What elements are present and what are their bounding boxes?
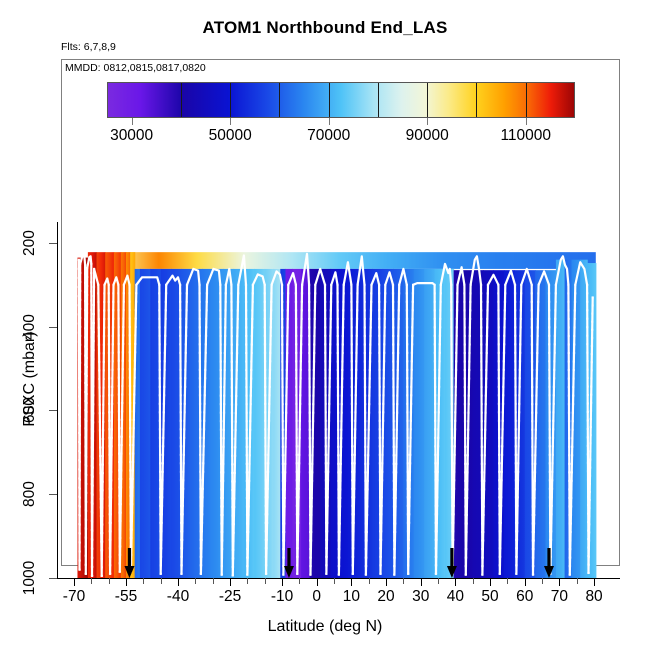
x-axis-tick-label: 0: [312, 588, 321, 606]
x-axis-tick-label: 10: [343, 588, 360, 606]
colorbar-separator: [378, 83, 379, 117]
x-axis-tick: [143, 578, 144, 584]
data-column: [140, 269, 151, 578]
x-axis-tick: [91, 578, 92, 584]
x-axis-tick: [161, 578, 162, 584]
colorbar-separator: [230, 83, 231, 117]
colorbar-gradient: [108, 83, 574, 117]
x-axis-tick-label: 80: [585, 588, 602, 606]
data-column: [414, 269, 425, 578]
colorbar-separator: [526, 83, 527, 117]
x-axis-tick: [299, 578, 300, 584]
colorbar-tick-label: 110000: [500, 127, 551, 145]
x-axis-tick: [490, 578, 491, 586]
x-axis-tick: [282, 578, 283, 586]
y-axis-tick-label: 1000: [21, 561, 39, 595]
x-axis-tick: [438, 578, 439, 584]
x-axis-tick: [594, 578, 595, 586]
x-axis-tick: [265, 578, 266, 584]
colorbar-tick: [230, 118, 231, 125]
colorbar-tick: [132, 118, 133, 125]
plot-canvas: ATOM1 Northbound End_LAS Flts: 6,7,8,9 M…: [0, 0, 650, 650]
x-axis-tick: [421, 578, 422, 586]
colorbar-separator: [279, 83, 280, 117]
colorbar-tick-label: 50000: [209, 127, 252, 145]
x-axis-tick: [403, 578, 404, 584]
x-axis-tick: [126, 578, 127, 586]
x-axis-tick: [559, 578, 560, 586]
x-axis-tick-label: -55: [115, 588, 137, 606]
chart-title: ATOM1 Northbound End_LAS: [0, 18, 650, 38]
data-column: [424, 269, 435, 578]
x-axis-tick-label: 40: [447, 588, 464, 606]
mmdd-label: MMDD: 0812,0815,0817,0820: [65, 62, 206, 74]
x-axis-tick-label: 60: [516, 588, 533, 606]
x-axis-tick: [455, 578, 456, 586]
x-axis-title: Latitude (deg N): [0, 618, 650, 636]
colorbar-separator: [329, 83, 330, 117]
x-axis-tick: [542, 578, 543, 584]
x-axis-tick: [74, 578, 75, 586]
colorbar-tick-label: 90000: [406, 127, 449, 145]
colorbar-tick-label: 70000: [307, 127, 350, 145]
x-axis-tick: [247, 578, 248, 584]
colorbar-separator: [181, 83, 182, 117]
x-axis-line: [57, 578, 620, 579]
y-axis-tick: [49, 410, 57, 411]
x-axis-tick-label: -70: [63, 588, 85, 606]
curtain-plot: [74, 222, 601, 578]
colorbar-tick: [329, 118, 330, 125]
data-column: [556, 260, 565, 578]
colorbar-separator: [427, 83, 428, 117]
y-axis-tick: [49, 327, 57, 328]
data-column: [254, 269, 265, 578]
flights-label: Flts: 6,7,8,9: [61, 41, 116, 53]
y-axis-tick: [49, 243, 57, 244]
y-axis-tick-label: 200: [21, 230, 39, 256]
x-axis-tick: [351, 578, 352, 586]
x-axis-tick-label: -25: [219, 588, 241, 606]
x-axis-tick: [213, 578, 214, 584]
x-axis-tick: [525, 578, 526, 586]
upper-level-band: [121, 252, 596, 269]
x-axis-tick-label: 20: [377, 588, 394, 606]
colorbar-tick: [526, 118, 527, 125]
x-axis-tick-label: -10: [271, 588, 293, 606]
x-axis-tick: [178, 578, 179, 586]
x-axis-tick-label: 50: [481, 588, 498, 606]
x-axis-tick: [317, 578, 318, 586]
x-axis-tick-label: 30: [412, 588, 429, 606]
x-axis-tick: [507, 578, 508, 584]
x-axis-tick: [334, 578, 335, 584]
y-axis-tick: [49, 578, 57, 579]
colorbar-tick: [427, 118, 428, 125]
x-axis-tick: [369, 578, 370, 584]
x-axis-tick: [195, 578, 196, 584]
y-axis-title: PSXC (mbar): [21, 269, 39, 489]
y-axis-tick: [49, 494, 57, 495]
x-axis-tick-label: 70: [551, 588, 568, 606]
x-axis-tick: [386, 578, 387, 586]
colorbar-separator: [476, 83, 477, 117]
x-axis-tick: [577, 578, 578, 584]
colorbar: [107, 82, 575, 118]
x-axis-tick: [230, 578, 231, 586]
x-axis-tick-label: -40: [167, 588, 189, 606]
colorbar-tick-label: 30000: [110, 127, 153, 145]
y-axis-line: [57, 222, 58, 579]
x-axis-tick: [109, 578, 110, 584]
data-column: [273, 269, 281, 578]
x-axis-tick: [473, 578, 474, 584]
